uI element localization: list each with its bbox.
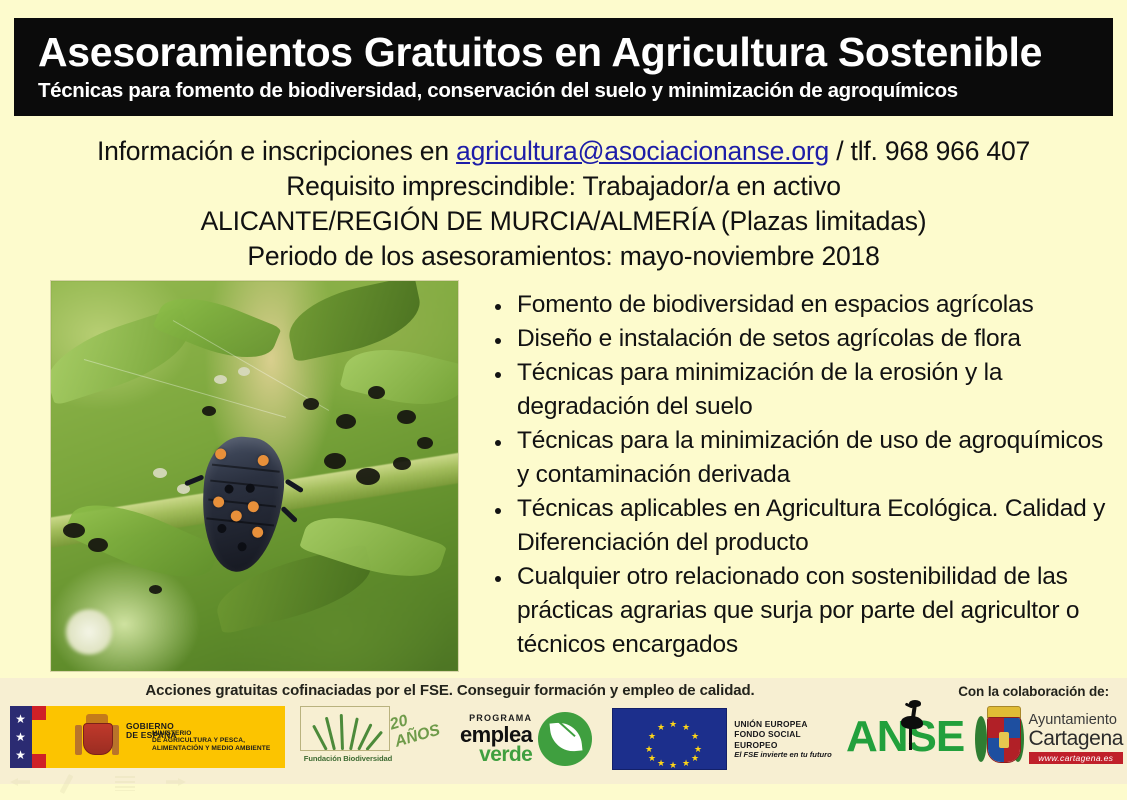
anniversary-badge: 20 AÑOS (388, 704, 442, 751)
info-line-period: Periodo de los asesoramientos: mayo-novi… (0, 239, 1127, 274)
escutcheon (987, 717, 1021, 763)
grass-blade-icon (312, 725, 328, 751)
logo-emplea-verde: PROGRAMA emplea verde (460, 706, 605, 772)
info-contact-prefix: Información e inscripciones en (97, 136, 449, 166)
emplea-word2: verde (460, 744, 532, 765)
flamingo-icon (895, 700, 929, 752)
forward-arrow-icon[interactable] (164, 772, 190, 794)
pencil-icon[interactable] (60, 772, 86, 794)
fundacion-caption: Fundación Biodiversidad (300, 754, 396, 763)
flag-star-icon: ★ (15, 714, 26, 725)
pillar-icon (75, 725, 82, 755)
grass-icon-box (300, 706, 390, 751)
poster-header: Asesoramientos Gratuitos en Agricultura … (14, 18, 1113, 116)
flag-red-bottom (32, 754, 46, 768)
logo-anse: ANSE (846, 708, 976, 770)
list-item: Fomento de biodiversidad en espacios agr… (513, 288, 1107, 322)
eu-star-icon: ★ (691, 754, 699, 763)
list-item: Diseño e instalación de setos agrícolas … (513, 322, 1107, 356)
ladybird-larva-photo (50, 280, 459, 672)
aphid (397, 410, 416, 424)
eu-star-icon: ★ (691, 732, 699, 741)
spain-coat-of-arms-icon (74, 711, 120, 763)
logo-union-europea: ★ ★ ★ ★ ★ ★ ★ ★ ★ ★ ★ ★ UNIÓN EUROPEA FO… (612, 706, 842, 772)
ministry-line1: MINISTERIO (152, 730, 270, 737)
info-block: Información e inscripciones en agricultu… (0, 134, 1127, 274)
cartagena-line2: Cartagena (1029, 728, 1123, 750)
info-line-contact: Información e inscripciones en agricultu… (0, 134, 1127, 169)
flag-star-icon: ★ (15, 732, 26, 743)
list-item: Técnicas para la minimización de uso de … (513, 424, 1107, 492)
ladybird-larva (195, 433, 289, 576)
grass-blade-icon (340, 714, 344, 750)
eu-star-icon: ★ (682, 759, 690, 768)
leaf-icon (538, 712, 592, 766)
info-phone: / tlf. 968 966 407 (836, 136, 1030, 166)
footer-note: Acciones gratuitas cofinaciadas por el F… (0, 682, 900, 699)
page-title: Asesoramientos Gratuitos en Agricultura … (38, 32, 1113, 74)
aphid (336, 414, 356, 429)
logo-ayuntamiento-cartagena: Ayuntamiento Cartagena www.cartagena.es (975, 702, 1123, 774)
eu-star-icon: ★ (657, 759, 665, 768)
eu-star-icon: ★ (669, 761, 677, 770)
eu-line2: FONDO SOCIAL EUROPEO (734, 729, 842, 750)
aphid (393, 457, 411, 470)
services-list: Fomento de biodiversidad en espacios agr… (487, 288, 1107, 662)
grass-blade-icon (325, 717, 336, 751)
aphid (238, 367, 250, 376)
email-link[interactable]: agricultura@asociacionanse.org (456, 136, 829, 166)
eu-star-icon: ★ (682, 723, 690, 732)
flag-star-icon: ★ (15, 750, 26, 761)
aphid (214, 375, 227, 384)
cartagena-url: www.cartagena.es (1029, 752, 1123, 764)
wreath-left (975, 716, 987, 762)
logo-gobierno-espana: ★ ★ ★ GOBIERNO DE ESPAÑA MINISTERIO DE A… (10, 706, 285, 768)
gobierno-text: GOBIERNO DE ESPAÑA MINISTERIO DE AGRICUL… (126, 722, 270, 752)
back-arrow-icon[interactable] (8, 772, 34, 794)
lines-icon[interactable] (112, 772, 138, 794)
eu-star-icon: ★ (648, 754, 656, 763)
spain-flag-bar: ★ ★ ★ (10, 706, 72, 768)
page-subtitle: Técnicas para fomento de biodiversidad, … (38, 81, 1113, 102)
cartagena-crest-icon (975, 706, 1024, 770)
ministry-line3: ALIMENTACIÓN Y MEDIO AMBIENTE (152, 745, 270, 752)
grass-blade-icon (349, 717, 359, 750)
eu-star-icon: ★ (669, 720, 677, 729)
eu-star-icon: ★ (645, 745, 653, 754)
info-line-regions: ALICANTE/REGIÓN DE MURCIA/ALMERÍA (Plaza… (0, 204, 1127, 239)
list-item: Cualquier otro relacionado con sostenibi… (513, 560, 1107, 662)
list-item: Técnicas para minimización de la erosión… (513, 356, 1107, 424)
cartagena-line1: Ayuntamiento (1029, 713, 1123, 728)
eu-star-icon: ★ (648, 732, 656, 741)
ministry-line2: DE AGRICULTURA Y PESCA, (152, 737, 270, 744)
eu-line1: UNIÓN EUROPEA (734, 719, 842, 730)
aphid (153, 468, 167, 478)
eu-star-icon: ★ (657, 723, 665, 732)
list-item: Técnicas aplicables en Agricultura Ecoló… (513, 492, 1107, 560)
collaboration-label: Con la colaboración de: (958, 684, 1109, 699)
eu-text: UNIÓN EUROPEA FONDO SOCIAL EUROPEO El FS… (734, 719, 842, 760)
aphid (324, 453, 346, 469)
flamingo-leg (909, 728, 912, 750)
logo-fundacion-biodiversidad: Fundación Biodiversidad (300, 706, 396, 772)
emplea-wordmark: PROGRAMA emplea verde (460, 714, 532, 765)
poster-canvas: Asesoramientos Gratuitos en Agricultura … (0, 0, 1127, 800)
shield-icon (83, 723, 113, 755)
cartagena-text: Ayuntamiento Cartagena www.cartagena.es (1029, 713, 1123, 764)
info-line-requirement: Requisito imprescindible: Trabajador/a e… (0, 169, 1127, 204)
aphid (63, 523, 85, 538)
eu-line3: El FSE invierte en tu futuro (734, 750, 842, 759)
logo-strip: ★ ★ ★ GOBIERNO DE ESPAÑA MINISTERIO DE A… (0, 704, 1127, 776)
aphid (149, 585, 162, 594)
ghost-toolbar[interactable] (8, 768, 208, 798)
tower-icon (999, 732, 1009, 748)
pillar-icon (112, 725, 119, 755)
eu-flag-icon: ★ ★ ★ ★ ★ ★ ★ ★ ★ ★ ★ ★ (612, 708, 727, 770)
flag-red-top (32, 706, 46, 720)
aphid (202, 406, 216, 416)
